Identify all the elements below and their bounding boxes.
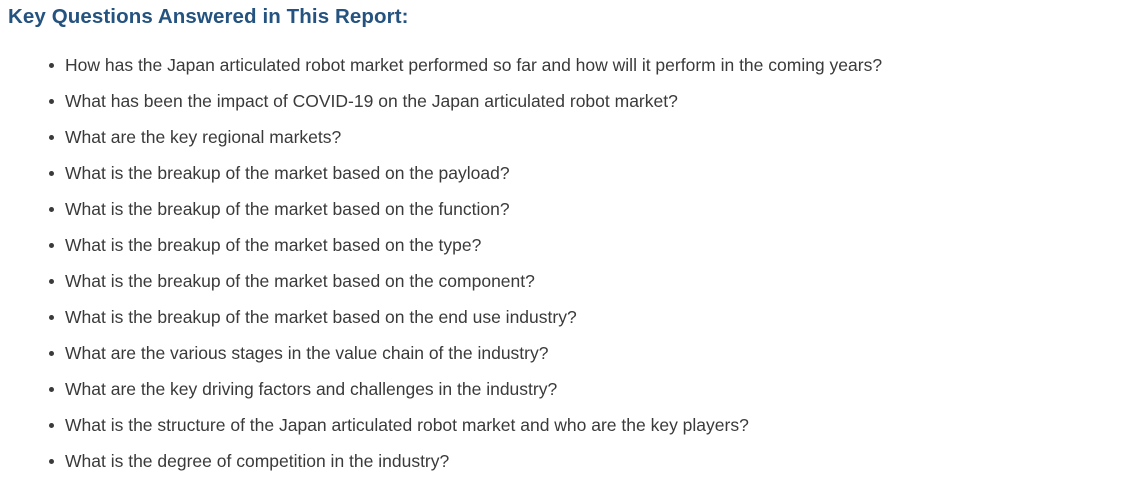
list-item: What is the breakup of the market based … <box>0 155 882 191</box>
bullet-icon <box>49 99 54 104</box>
bullet-icon <box>49 243 54 248</box>
list-item: What are the key regional markets? <box>0 119 882 155</box>
list-item: What is the degree of competition in the… <box>0 443 882 479</box>
list-item: What is the breakup of the market based … <box>0 299 882 335</box>
list-item-label: What is the breakup of the market based … <box>65 199 510 219</box>
list-item-label: What is the breakup of the market based … <box>65 271 535 291</box>
bullet-icon <box>49 63 54 68</box>
list-item-label: What is the breakup of the market based … <box>65 235 481 255</box>
list-item-label: What are the key driving factors and cha… <box>65 379 557 399</box>
list-item-label: What are the various stages in the value… <box>65 343 548 363</box>
list-item-label: What is the breakup of the market based … <box>65 307 577 327</box>
list-item: What are the key driving factors and cha… <box>0 371 882 407</box>
page-title: Key Questions Answered in This Report: <box>8 2 409 32</box>
bullet-icon <box>49 207 54 212</box>
list-item-label: How has the Japan articulated robot mark… <box>65 55 882 75</box>
list-item-label: What are the key regional markets? <box>65 127 341 147</box>
list-item-label: What has been the impact of COVID-19 on … <box>65 91 678 111</box>
list-item: What has been the impact of COVID-19 on … <box>0 83 882 119</box>
bullet-icon <box>49 171 54 176</box>
list-item-label: What is the breakup of the market based … <box>65 163 510 183</box>
bullet-icon <box>49 135 54 140</box>
key-questions-list: How has the Japan articulated robot mark… <box>0 47 882 479</box>
list-item-label: What is the degree of competition in the… <box>65 451 449 471</box>
report-questions-page: Key Questions Answered in This Report: H… <box>0 0 1132 499</box>
bullet-icon <box>49 459 54 464</box>
list-item: What is the structure of the Japan artic… <box>0 407 882 443</box>
bullet-icon <box>49 279 54 284</box>
list-item: What is the breakup of the market based … <box>0 263 882 299</box>
bullet-icon <box>49 351 54 356</box>
bullet-icon <box>49 423 54 428</box>
list-item-label: What is the structure of the Japan artic… <box>65 415 749 435</box>
list-item: What is the breakup of the market based … <box>0 227 882 263</box>
list-item: What is the breakup of the market based … <box>0 191 882 227</box>
bullet-icon <box>49 387 54 392</box>
list-item: How has the Japan articulated robot mark… <box>0 47 882 83</box>
list-item: What are the various stages in the value… <box>0 335 882 371</box>
bullet-icon <box>49 315 54 320</box>
